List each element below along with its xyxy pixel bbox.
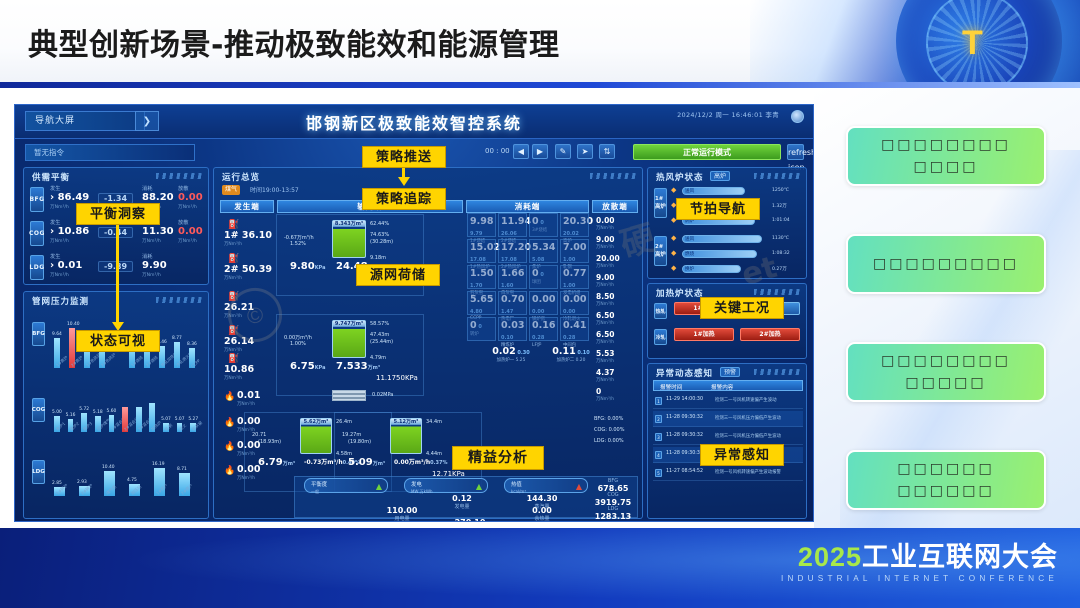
consumer-sub: 0.10 <box>576 350 590 356</box>
consumption-unit: 万Nm³/h <box>142 272 167 278</box>
consumer-cell-bg <box>498 291 527 315</box>
vent-value: 0.00 <box>596 216 638 225</box>
lean-pill[interactable]: 平衡度一般▲ <box>304 478 388 493</box>
alarm-time: 11-27 08:54:52 <box>666 469 703 474</box>
vent-value: 0.00 <box>178 192 203 204</box>
vent-value: 5.53 <box>596 349 638 358</box>
vent-ratio: LDG: 0.00% <box>594 438 624 444</box>
consumer-item: 0.11 0.10加热炉二 0.20 <box>542 346 600 363</box>
bar-value: 5.72 <box>79 407 89 412</box>
vent-unit: 万Nm³/h <box>596 377 638 383</box>
consumer-cell-bg <box>498 213 527 237</box>
stove-tag[interactable]: 高炉 <box>710 171 730 181</box>
vent-value: 6.50 <box>596 330 638 339</box>
alarm-index: 5 <box>655 469 662 477</box>
vent-item: 8.50万Nm³/h <box>596 292 638 307</box>
source-unit: 万Nm³/h <box>224 241 276 247</box>
hot-blast-stove-panel: 热风炉状态 高炉 1#高炉◆送风1250℃◆燃烧1.32万◆焖炉1:01:042… <box>647 167 807 279</box>
playback-clock: 00 : 00 <box>485 147 510 155</box>
stove-bar-value: 1:01:04 <box>772 218 790 223</box>
anomaly-detection-panel: 异常动态感知 预警 报警时间 报警内容 111-29 14:00:30检测二一号… <box>647 363 807 519</box>
tank-flow-primary: 6.79万m³ <box>258 457 295 468</box>
vent-item: 5.53万Nm³/h <box>596 349 638 364</box>
vent-item: 9.00万Nm³/h <box>596 273 638 288</box>
gas-badge-bfg: BFG <box>30 187 44 212</box>
consumer-cell-bg <box>498 265 527 289</box>
pipeline-pressure-title: 管网压力监测 <box>32 295 89 307</box>
tank-flow-secondary-unit: 万m³ <box>368 365 380 371</box>
column-header-source: 发生端 <box>220 200 274 213</box>
consumer-cell-bg <box>529 291 558 315</box>
consumer-cell-bg <box>498 239 527 263</box>
generation-label: 发生 <box>50 253 82 260</box>
lean-metric-value: 144.30 <box>514 494 570 503</box>
vent-item: 4.37万Nm³/h <box>596 368 638 383</box>
furnace-badge-0: 热轧 <box>654 303 667 319</box>
furnace-button-right-1[interactable]: 2#加热 <box>740 328 800 341</box>
alarm-time: 11-28 09:30:32 <box>666 433 703 438</box>
header-decoration-art <box>750 0 1080 88</box>
bar-value: 8.36 <box>187 342 197 347</box>
stove-badge-1: 2#高炉 <box>654 236 667 266</box>
run-mode-indicator: 正常运行模式 <box>633 144 781 160</box>
green-note-box-1: □□□□□□□□ □□□□ <box>846 126 1046 186</box>
vent-value: 20.00 <box>596 254 638 263</box>
vent-unit: 万Nm³/h <box>596 282 638 288</box>
consumer-cell-bg <box>467 265 496 289</box>
vent-label: 放散 <box>178 219 203 226</box>
flare-unit: 万Nm³/h <box>237 401 276 407</box>
alarm-table-header: 报警时间 报警内容 <box>653 380 803 391</box>
consumer-cell-bg <box>467 317 496 341</box>
send-icon[interactable]: ➤ <box>577 144 593 159</box>
source-icon-converter-icon: ⛽ <box>228 354 280 364</box>
vent-cell: 放散0.00万Nm³/h <box>178 219 203 244</box>
supply-demand-title: 供需平衡 <box>32 171 70 183</box>
tank-flow-primary-unit: 万m³ <box>283 461 295 467</box>
panel-decoration <box>754 173 800 179</box>
green-note-box-3: □□□□□□□□ □□□□□ <box>846 342 1046 402</box>
consumer-value: 0.02 0.30 <box>482 346 540 357</box>
stove-bar-label: 燃烧 <box>685 251 694 257</box>
tank-capacity-label: 5.12万m³ <box>391 419 421 425</box>
vent-unit: 万Nm³/h <box>596 225 638 231</box>
consumption-cell: 消耗9.90万Nm³/h <box>142 253 167 278</box>
alarm-time: 11-29 14:00:30 <box>666 397 703 402</box>
vent-item: 9.00万Nm³/h <box>596 235 638 250</box>
header-t-logo-icon: T <box>962 24 984 64</box>
stove-flame-icon: ◆ <box>671 249 676 257</box>
callout-source-grid-load-storage: 源网荷储 <box>356 264 440 286</box>
consumption-label: 消耗 <box>142 253 167 260</box>
callout-rhythm-navigation: 节拍导航 <box>676 198 760 220</box>
lean-total-value: 1283.13 <box>586 512 640 521</box>
edit-icon[interactable]: ✎ <box>555 144 571 159</box>
table-row[interactable]: 211-28 09:30:32检测三一号风机压力偏低产生波动 <box>653 411 803 427</box>
vent-value: 9.00 <box>596 273 638 282</box>
tank-flow-secondary: 0.00万m³/h0.37% <box>394 457 448 466</box>
tank-flow-secondary-unit: 0.37% <box>430 460 447 466</box>
consumer-cell-bg <box>529 239 558 263</box>
stove-badge-0: 1#高炉 <box>654 188 667 218</box>
tank-left-pct: (19.80m) <box>348 439 371 445</box>
bar-value: 9.64 <box>52 332 62 337</box>
lean-pill-sub: 一般 <box>311 485 319 498</box>
slide-header: T 典型创新场景-推动极致能效和能源管理 <box>0 0 1080 88</box>
bar-value: 2.93 <box>77 480 87 485</box>
consumer-sub: 0.30 <box>516 350 530 356</box>
bar-value: 5.18 <box>93 410 103 415</box>
alarm-index: 1 <box>655 397 662 405</box>
tank-percent: 58.57% <box>370 321 389 327</box>
operation-overview-title: 运行总览 <box>222 171 260 183</box>
gas-holder-tank: 8.343万m³ <box>332 220 366 258</box>
tank-right-b: (30.28m) <box>370 239 393 245</box>
bar-value: 4.75 <box>127 478 137 483</box>
callout-connector <box>116 225 119 323</box>
refresh-icon[interactable]: refresh-icon <box>787 144 804 160</box>
source-icon-blast-furnace-icon: ⛽ <box>228 254 280 264</box>
consumer-cell-bg <box>467 291 496 315</box>
table-row[interactable]: 511-27 08:54:52检测一号风机转速偏产生波动报警 <box>653 465 803 481</box>
slide-footer: 2025工业互联网大会 INDUSTRIAL INTERNET CONFEREN… <box>0 528 1080 608</box>
consumer-cell-bg <box>498 317 527 341</box>
panel-decoration <box>590 173 636 179</box>
callout-balance-insight: 平衡洞察 <box>76 203 160 225</box>
stove-bar-value: 1:08:32 <box>772 251 790 256</box>
consumption-unit: 万Nm³/h <box>142 238 174 244</box>
vent-value: 8.50 <box>596 292 638 301</box>
user-avatar-icon[interactable] <box>791 110 804 123</box>
stove-bar-value: 1.32万 <box>772 203 787 209</box>
next-button[interactable]: ▶ <box>532 144 548 159</box>
bar-value: 16.19 <box>152 462 165 467</box>
header-divider <box>0 82 1080 88</box>
chart-badge-cog: COG <box>32 398 45 422</box>
panel-decoration <box>754 289 800 295</box>
callout-status-visible: 状态可视 <box>76 330 160 352</box>
lean-pill[interactable]: 热值kcal/m³▲ <box>504 478 588 493</box>
consumer-cell-bg <box>560 213 589 237</box>
flame-icon: 🔥 <box>224 418 235 428</box>
overview-time-range: 时间19:00-13:57 <box>250 185 299 194</box>
bar-value: 5.00 <box>52 410 62 415</box>
vent-unit: 万Nm³/h <box>178 238 203 244</box>
vent-item: 0万Nm³/h <box>596 387 638 402</box>
consumer-name: 加热炉二 0.20 <box>542 357 600 363</box>
consumption-label: 消耗 <box>142 185 174 192</box>
vent-unit: 万Nm³/h <box>178 204 203 210</box>
stove-bar-label: 换炉 <box>685 266 694 272</box>
stove-bar-label: 送风 <box>685 188 694 194</box>
alarm-col-time: 报警时间 <box>660 383 682 393</box>
panel-decoration <box>156 173 202 179</box>
source-unit: 万Nm³/h <box>224 375 276 381</box>
lean-total: LDG1283.13 <box>586 506 640 521</box>
tank-bottom-pressure: 11.1750KPa <box>376 374 418 382</box>
lean-total: BFG678.65 <box>586 478 640 493</box>
logo-title-en: INDUSTRIAL INTERNET CONFERENCE <box>781 574 1058 583</box>
generation-value: › 0.01 <box>50 260 82 272</box>
source-value: 1# 36.10 <box>224 230 276 241</box>
reheat-furnace-panel: 加热炉状态 热轧1#加热2#待烧冷轧1#加热2#加热 <box>647 283 807 359</box>
tank-left-pct: 1.00% <box>290 341 306 347</box>
compressor-pressure: 0.02MPa <box>372 392 393 398</box>
alarm-message: 检测二一号风机转速偏产生波动 <box>715 397 776 403</box>
furnace-button-left-1[interactable]: 1#加热 <box>674 328 734 341</box>
vent-label: 放散 <box>178 185 203 192</box>
tank-flow-primary: 6.75KPa <box>290 361 325 372</box>
lean-metric-value: 0.00 <box>514 506 570 515</box>
flare-item: 🔥0.01万Nm³/h <box>224 390 276 407</box>
vent-unit: 万Nm³/h <box>596 396 638 402</box>
generation-unit: 万Nm³/h <box>50 238 89 244</box>
vent-value: 6.50 <box>596 311 638 320</box>
lean-metric-label: 发电量 <box>434 503 490 510</box>
stove-flame-icon: ◆ <box>671 186 676 194</box>
vent-item: 0.00万Nm³/h <box>596 216 638 231</box>
source-unit: 万Nm³/h <box>224 347 276 353</box>
lean-metric: 270.10总量 <box>442 518 498 522</box>
chart-bars: 5.00焦炉15.16焦炉25.72焦炉35.18回炉煤气5.601#混合站2#… <box>52 396 204 432</box>
tank-left-pct: (18.93m) <box>258 439 281 445</box>
vent-ratio: COG: 0.00% <box>594 427 624 433</box>
alarm-time: 11-28 09:30:32 <box>666 415 703 420</box>
flame-icon: 🔥 <box>224 442 235 452</box>
lean-pill-sub: MW 万kWh <box>411 485 432 498</box>
generation-cell: 发生› 0.01万Nm³/h <box>50 253 82 278</box>
vent-unit: 万Nm³/h <box>596 301 638 307</box>
consumer-cell-bg <box>529 265 558 289</box>
generation-unit: 万Nm³/h <box>50 272 82 278</box>
column-header-vent: 放散端 <box>592 200 638 213</box>
lean-metric-label: 余热量 <box>514 515 570 522</box>
stove-gear-icon: ◆ <box>671 264 676 272</box>
pressure-chart-ldg: LDG2.851#转炉2.932#转炉10.40煤气柜4.75加压站16.191… <box>32 446 204 510</box>
lean-dot-icon: ▲ <box>576 480 582 493</box>
chart-badge-bfg: BFG <box>32 322 45 346</box>
gas-type-tag[interactable]: 煤气 <box>222 185 240 195</box>
consumer-cell-bg <box>560 291 589 315</box>
consumer-cell-bg <box>529 213 558 237</box>
prev-button[interactable]: ◀ <box>513 144 529 159</box>
alarm-message: 检测三一号风机压力偏低产生波动 <box>715 415 781 421</box>
vent-unit: 万Nm³/h <box>596 339 638 345</box>
lean-metric-value: 110.00 <box>374 506 430 515</box>
page-title: 典型创新场景-推动极致能效和能源管理 <box>28 20 559 64</box>
vent-item: 6.50万Nm³/h <box>596 311 638 326</box>
tank-flow-primary-unit: KPa <box>315 265 326 271</box>
lean-pill[interactable]: 发电MW 万kWh▲ <box>404 478 488 493</box>
bar-value: 8.77 <box>172 336 182 341</box>
tank-capacity-label: 9.747万m³ <box>333 321 365 327</box>
flare-value: 0.01 <box>237 390 276 401</box>
generation-label: 发生 <box>50 185 89 192</box>
tank-left-rate: 0.00万m³/h <box>284 334 312 341</box>
source-value: 10.86 <box>224 364 276 375</box>
alarm-message: 检测三一号风机压力偏低产生波动 <box>715 433 781 439</box>
lean-total: COG3919.75 <box>586 492 640 507</box>
chart-bars: 2.851#转炉2.932#转炉10.40煤气柜4.75加压站16.191#用户… <box>52 458 204 496</box>
callout-lean-analysis: 精益分析 <box>452 446 544 470</box>
generation-value: › 10.86 <box>50 226 89 238</box>
tank-percent: 62.44% <box>370 221 389 227</box>
consumer-cell-bg <box>560 265 589 289</box>
chart-badge-ldg: LDG <box>32 460 45 484</box>
stove-bar-value: 1130℃ <box>772 236 789 241</box>
conference-logo: 2025工业互联网大会 INDUSTRIAL INTERNET CONFEREN… <box>781 542 1058 583</box>
logo-year: 2025 <box>798 542 862 572</box>
lean-metric-value: 0.12 <box>434 494 490 503</box>
compressor-icon <box>332 390 366 401</box>
vent-item: 6.50万Nm³/h <box>596 330 638 345</box>
playback-toolbar: 00 : 00 ◀ ▶ ✎ ➤ ⇅ 正常运行模式 refresh-icon <box>485 143 805 162</box>
tank-right-a: 74.63% <box>370 232 389 238</box>
lean-check-icon: ▲ <box>376 480 382 493</box>
callout-arrow-icon <box>398 177 410 186</box>
source-unit: 万Nm³/h <box>224 275 276 281</box>
pressure-chart-cog: COG5.00焦炉15.16焦炉25.72焦炉35.18回炉煤气5.601#混合… <box>32 384 204 446</box>
gas-holder-tank: 9.747万m³ <box>332 320 366 358</box>
lean-metric-label: 用电量 <box>374 515 430 522</box>
tank-flow-primary-unit: KPa <box>315 365 326 371</box>
bar-value: 10.40 <box>102 465 115 470</box>
tank-right-a: 47.43m <box>370 332 389 338</box>
lean-metric: 0.12发电量 <box>434 494 490 510</box>
callout-strategy-track: 策略追踪 <box>362 188 446 210</box>
green-note-box-2: □□□□□□□□□ <box>846 234 1046 294</box>
command-status-bar: 暂无指令 <box>25 144 195 161</box>
logo-title-cn: 工业互联网大会 <box>862 542 1058 572</box>
tank-left-rate: 20.71 <box>252 432 266 438</box>
alarm-index: 3 <box>655 433 662 441</box>
lean-triangle-icon: ▲ <box>476 480 482 493</box>
gas-badge-ldg: LDG <box>30 255 44 280</box>
vent-item: 20.00万Nm³/h <box>596 254 638 269</box>
tank-flow-secondary: 7.533万m³ <box>336 361 380 372</box>
source-item: ⛽1# 36.10万Nm³/h <box>224 220 276 247</box>
vent-unit: 万Nm³/h <box>596 358 638 364</box>
stove-bar-value: 0.27万 <box>772 266 787 272</box>
adjust-icon[interactable]: ⇅ <box>599 144 615 159</box>
alarm-time: 11-28 09:30:32 <box>666 451 703 456</box>
tank-capacity-label: 5.62万m³ <box>301 419 331 425</box>
alarm-index: 4 <box>655 451 662 459</box>
consumer-name: 加热炉一 5.25 <box>482 357 540 363</box>
table-row[interactable]: 111-29 14:00:30检测二一号风机转速偏产生波动 <box>653 393 803 409</box>
hot-blast-stove-title: 热风炉状态 <box>656 171 704 183</box>
reheat-furnace-title: 加热炉状态 <box>656 287 704 299</box>
table-row[interactable]: 311-28 09:30:32检测三一号风机压力偏低产生波动 <box>653 429 803 445</box>
vent-value: 0 <box>596 387 638 396</box>
bar-value: 10.40 <box>67 322 80 327</box>
consumption-value: 11.30 <box>142 226 174 238</box>
vent-value: 0.00 <box>178 226 203 238</box>
bar-value: 5.07 <box>175 417 185 422</box>
flame-icon: 🔥 <box>224 392 235 402</box>
tank-right-b: (25.44m) <box>370 339 393 345</box>
callout-strategy-push: 策略推送 <box>362 146 446 168</box>
stove-bar-value: 1250℃ <box>772 188 789 193</box>
bar-value: 2.85 <box>52 481 62 486</box>
operation-overview-panel: 运行总览 煤气 时间19:00-13:57 发生端 输配端 消耗端 放散端 ⛽1… <box>213 167 643 519</box>
callout-anomaly-sense: 异常感知 <box>700 444 784 466</box>
consumer-cell-bg <box>560 239 589 263</box>
bar-value: 5.16 <box>66 413 76 418</box>
panel-decoration <box>754 369 800 375</box>
source-item: ⛽10.86万Nm³/h <box>224 354 276 381</box>
consumer-value: 0.11 0.10 <box>542 346 600 357</box>
tank-flow-primary: 9.80KPa <box>290 261 325 272</box>
alarm-message: 检测一号风机转速偏产生波动报警 <box>715 469 781 475</box>
vent-cell: 放散0.00万Nm³/h <box>178 185 203 210</box>
green-note-box-4: □□□□□□ □□□□□□ <box>846 450 1046 510</box>
bar-value: 5.27 <box>188 417 198 422</box>
tank-left-rate: -0.67万m³/h <box>284 234 314 241</box>
stove-bar-label: 送风 <box>685 236 694 242</box>
gas-badge-cog: COG <box>30 221 44 246</box>
alarm-index: 2 <box>655 415 662 423</box>
consumer-cell-bg <box>529 317 558 341</box>
lean-metric: 110.00用电量 <box>374 506 430 522</box>
vent-unit: 万Nm³/h <box>596 244 638 250</box>
panel-decoration <box>156 297 202 303</box>
anomaly-detection-title: 异常动态感知 <box>656 367 713 379</box>
alarm-tag[interactable]: 预警 <box>720 367 740 377</box>
gas-holder-tank: 5.12万m³ <box>390 418 422 454</box>
consumer-cell-bg <box>467 213 496 237</box>
lean-metric-value: 270.10 <box>442 518 498 522</box>
source-icon-blast-furnace-icon: ⛽ <box>228 220 280 230</box>
vent-unit: 万Nm³/h <box>596 320 638 326</box>
column-header-consume: 消耗端 <box>466 200 589 213</box>
bar-value: 8.71 <box>177 467 187 472</box>
vent-ratio: BFG: 0.00% <box>594 416 623 422</box>
tank-flow-primary: 5.09万m³ <box>348 457 385 468</box>
consumer-cell-bg <box>560 317 589 341</box>
callout-key-conditions: 关键工况 <box>700 297 784 319</box>
furnace-badge-1: 冷轧 <box>654 329 667 345</box>
source-item: ⛽2# 50.39万Nm³/h <box>224 254 276 281</box>
vent-value: 4.37 <box>596 368 638 377</box>
vent-value: 9.00 <box>596 235 638 244</box>
gas-holder-tank: 5.62万m³ <box>300 418 332 454</box>
tank-left-pct: 1.52% <box>290 241 306 247</box>
alarm-col-msg: 报警内容 <box>711 383 733 393</box>
flame-icon: 🔥 <box>224 466 235 476</box>
tank-flow-primary-unit: 万m³ <box>373 461 385 467</box>
consumer-cell-bg <box>467 239 496 263</box>
vent-unit: 万Nm³/h <box>596 263 638 269</box>
tank-percent: 34.4m <box>426 419 442 425</box>
dashboard-datetime-user: 2024/12/2 周一 16:46:01 李青 <box>677 109 779 121</box>
consumer-item: 0.02 0.30加热炉一 5.25 <box>482 346 540 363</box>
bar-value: 5.60 <box>107 409 117 414</box>
consumption-value: 9.90 <box>142 260 167 272</box>
stove-flame-icon: ◆ <box>671 234 676 242</box>
tank-left-rate: 19.27m <box>342 432 361 438</box>
lean-metric: 0.00余热量 <box>514 506 570 522</box>
source-value: 2# 50.39 <box>224 264 276 275</box>
tank-capacity-label: 8.343万m³ <box>333 221 365 227</box>
